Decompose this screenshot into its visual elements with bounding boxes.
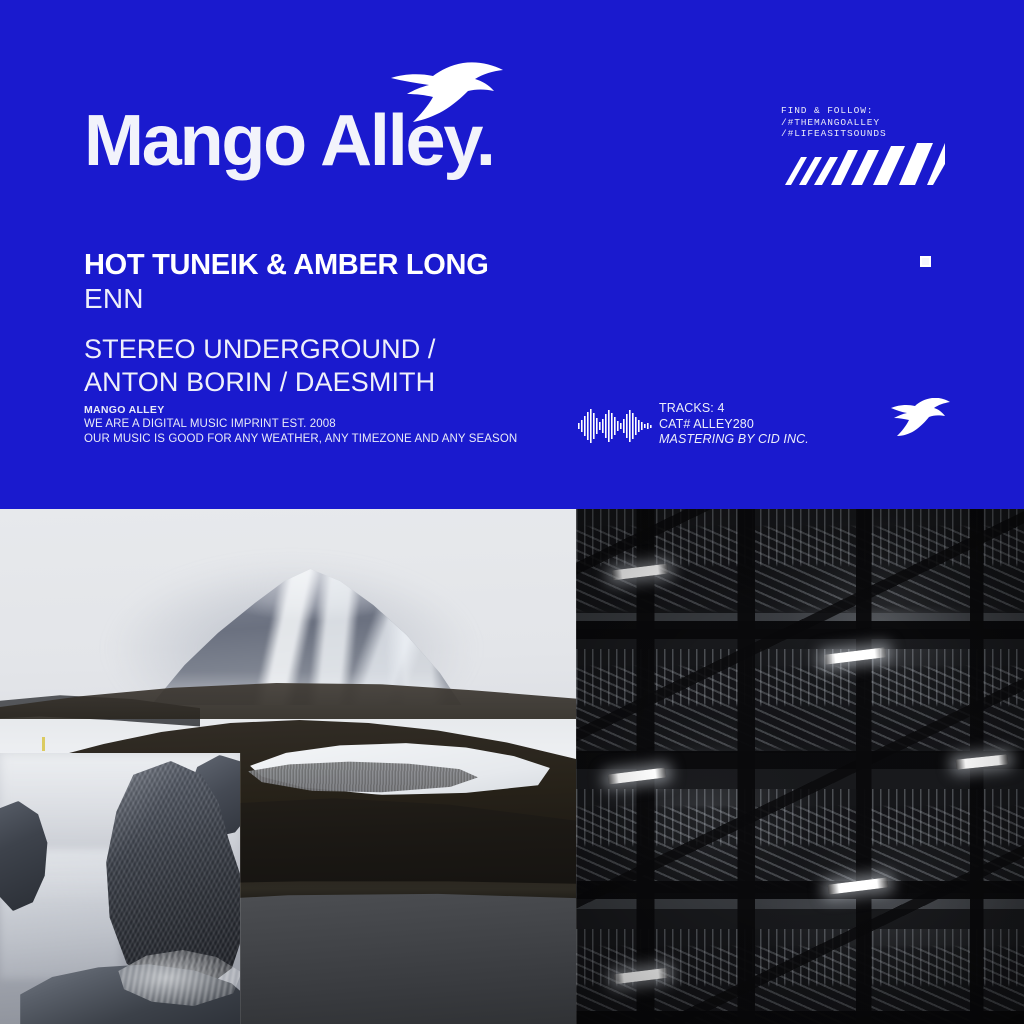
industrial-staircase-photo bbox=[576, 509, 1024, 1024]
panel-seam bbox=[240, 753, 241, 1024]
imprint-name: MANGO ALLEY bbox=[84, 403, 517, 417]
remixer-list: STEREO UNDERGROUND / ANTON BORIN / DAESM… bbox=[84, 333, 488, 399]
remixer-line-2: ANTON BORIN / DAESMITH bbox=[84, 366, 488, 399]
square-marker-icon bbox=[920, 256, 931, 267]
seagull-icon bbox=[385, 62, 505, 124]
follow-handle-hashtag[interactable]: /#LIFEASITSOUNDS bbox=[781, 128, 887, 140]
tracks-count: TRACKS: 4 bbox=[659, 401, 809, 417]
imprint-block: MANGO ALLEY WE ARE A DIGITAL MUSIC IMPRI… bbox=[84, 403, 517, 446]
release-credits: TRACKS: 4 CAT# ALLEY280 MASTERING BY CID… bbox=[659, 401, 809, 448]
road-marker-post bbox=[42, 737, 45, 751]
artist-name: HOT TUNEIK & AMBER LONG bbox=[84, 248, 488, 282]
catalog-number: CAT# ALLEY280 bbox=[659, 417, 809, 433]
remixer-line-1: STEREO UNDERGROUND / bbox=[84, 333, 488, 366]
vignette bbox=[576, 509, 1024, 1024]
photo-collage bbox=[0, 509, 1024, 1024]
audio-waveform-icon bbox=[578, 408, 654, 444]
imprint-line-1: WE ARE A DIGITAL MUSIC IMPRINT EST. 2008 bbox=[84, 417, 517, 432]
seagull-icon bbox=[888, 398, 950, 436]
diagonal-stripes-icon bbox=[781, 142, 945, 185]
release-titles: HOT TUNEIK & AMBER LONG ENN STEREO UNDER… bbox=[84, 248, 488, 399]
mastering-credit: MASTERING BY CID INC. bbox=[659, 432, 809, 448]
follow-heading: FIND & FOLLOW: bbox=[781, 105, 887, 117]
blue-header-panel: Mango Alley. FIND & FOLLOW: /#THEMANGOAL… bbox=[0, 0, 1024, 509]
panel-seam bbox=[576, 509, 577, 1024]
volcanic-coast-photo bbox=[0, 753, 240, 1024]
follow-handle-instagram[interactable]: /#THEMANGOALLEY bbox=[781, 117, 887, 129]
imprint-line-2: OUR MUSIC IS GOOD FOR ANY WEATHER, ANY T… bbox=[84, 432, 517, 447]
album-cover: Mango Alley. FIND & FOLLOW: /#THEMANGOAL… bbox=[0, 0, 1024, 1024]
track-title: ENN bbox=[84, 282, 488, 315]
find-and-follow-block: FIND & FOLLOW: /#THEMANGOALLEY /#LIFEASI… bbox=[781, 105, 887, 140]
